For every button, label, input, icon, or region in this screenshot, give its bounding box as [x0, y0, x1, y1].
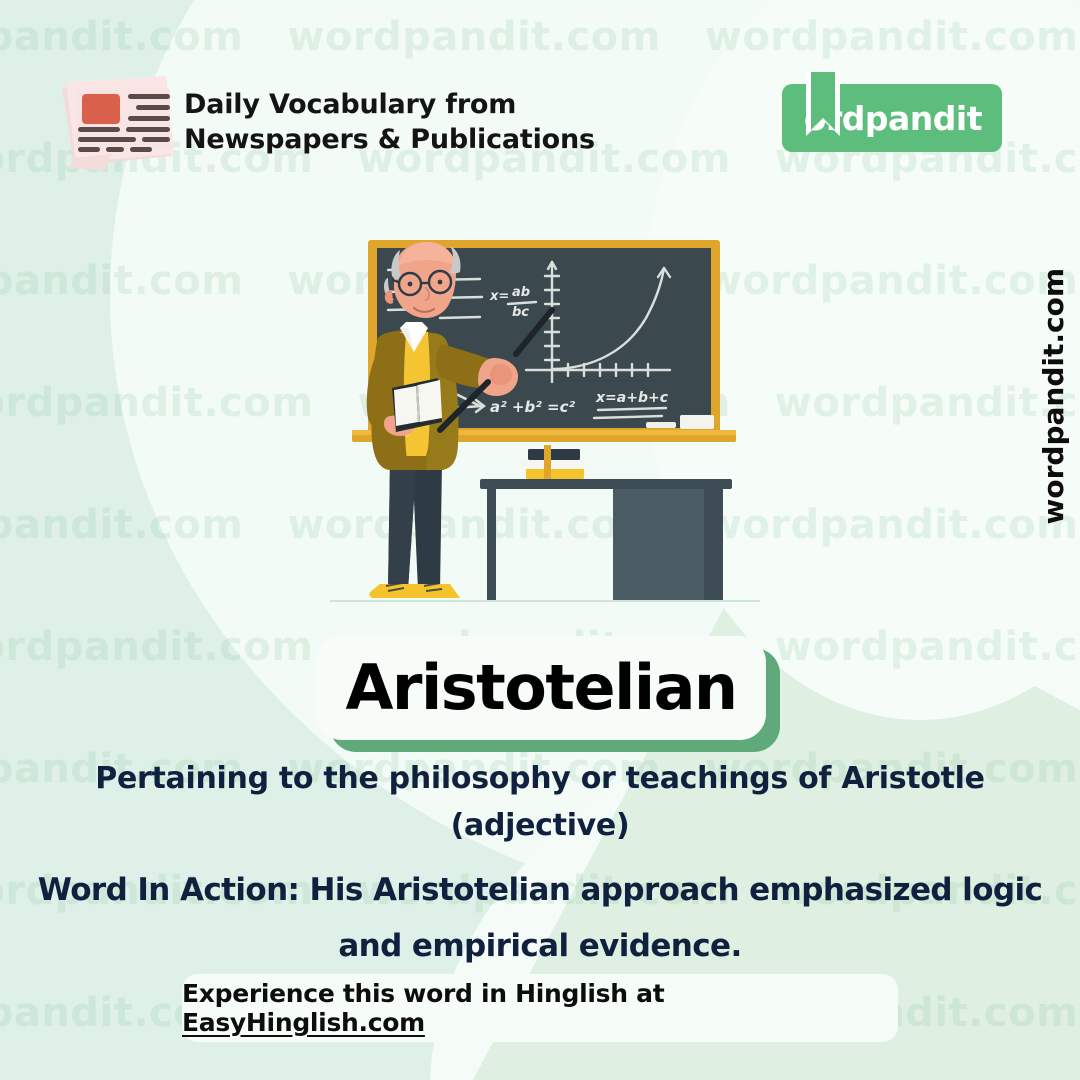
part-of-speech: (adjective) — [40, 808, 1040, 843]
footer-prefix: Experience this word in Hinglish at — [182, 979, 664, 1008]
newspaper-icon — [56, 74, 180, 170]
svg-text:ab: ab — [512, 285, 530, 300]
vocabulary-card: wordpandit.comwordpandit.comwordpandit.c… — [0, 0, 1080, 1080]
svg-text:a² +b² =c²: a² +b² =c² — [490, 398, 575, 416]
footer-text: Experience this word in Hinglish at Easy… — [182, 979, 898, 1037]
word-definition: Pertaining to the philosophy or teaching… — [40, 752, 1040, 807]
svg-text:bc: bc — [512, 305, 529, 320]
easyhinglish-link[interactable]: EasyHinglish.com — [182, 1008, 425, 1037]
brand-logo[interactable]: ordpandit — [782, 84, 1002, 152]
header-title: Daily Vocabulary from Newspapers & Publi… — [184, 88, 595, 157]
svg-text:x=: x= — [489, 289, 509, 304]
word-in-action: Word In Action: His Aristotelian approac… — [10, 863, 1070, 975]
bookmark-icon — [806, 72, 840, 138]
teacher-at-chalkboard-illustration: x= ab bc a² +b² =c² x=a+b+c — [330, 232, 760, 652]
svg-text:x=a+b+c: x=a+b+c — [595, 390, 669, 406]
side-website-url: wordpandit.com — [1037, 268, 1070, 525]
header: Daily Vocabulary from Newspapers & Publi… — [0, 0, 1080, 190]
vocabulary-word: Aristotelian — [345, 657, 736, 719]
hinglish-footer-bar[interactable]: Experience this word in Hinglish at Easy… — [182, 974, 898, 1042]
word-card: Aristotelian — [316, 636, 766, 740]
